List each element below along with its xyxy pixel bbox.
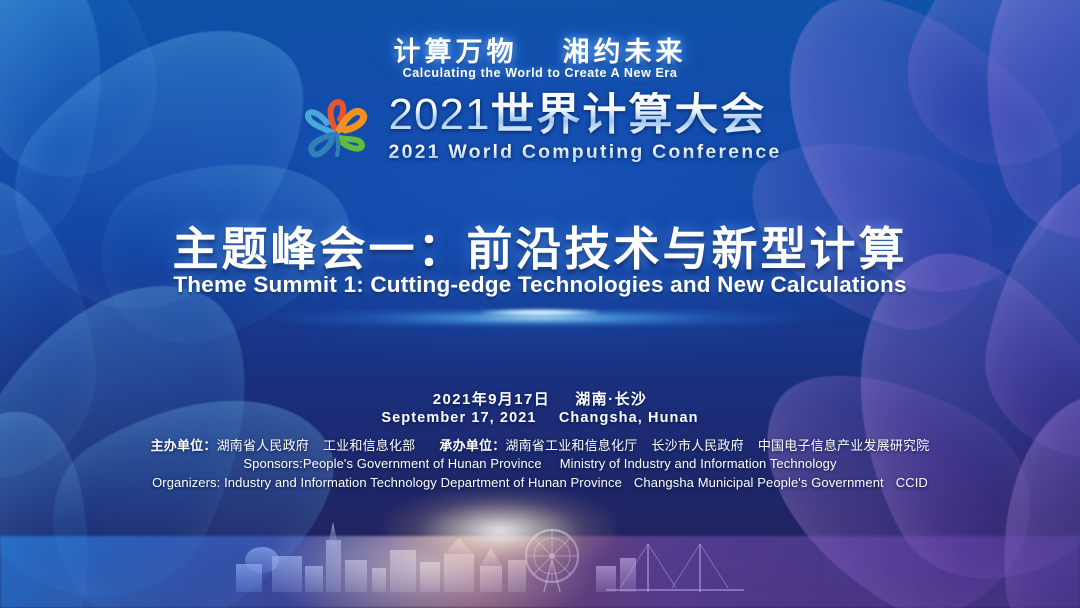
sponsor-label-cn: 主办单位： — [151, 438, 217, 453]
organizers-en-1: Organizers: Industry and Information Tec… — [152, 475, 622, 490]
credits-chinese: 主办单位：湖南省人民政府工业和信息化部承办单位：湖南省工业和信息化厅长沙市人民政… — [0, 435, 1080, 454]
conference-poster: 计算万物 湘约未来 Calculating the World to Creat… — [0, 0, 1080, 608]
organizer-cn-2: 长沙市人民政府 — [651, 438, 743, 453]
organizer-label-cn: 承办单位： — [439, 438, 505, 453]
slogan-cn-left: 计算万物 — [393, 37, 517, 67]
lens-flare-core — [480, 309, 600, 316]
road-center-glow — [385, 488, 615, 574]
conference-name-cn: 世界计算大会 — [490, 90, 766, 139]
sponsors-en-1: Sponsors:People's Government of Hunan Pr… — [243, 456, 541, 471]
sponsors-en-2: Ministry of Industry and Information Tec… — [560, 456, 837, 471]
date-en-value: September 17, 2021 — [381, 410, 536, 426]
sponsor-cn-1: 湖南省人民政府 — [217, 438, 309, 453]
conference-identity: 2021世界计算大会 2021 World Computing Conferen… — [0, 92, 1080, 164]
event-date-cn: 2021年9月17日 湖南·长沙 — [0, 388, 1080, 409]
summit-title-cn: 主题峰会一：前沿技术与新型计算 — [0, 213, 1080, 279]
butterfly-flower-logo — [299, 92, 375, 164]
summit-title-en: Theme Summit 1: Cutting-edge Technologie… — [0, 272, 1080, 298]
organizers-en-2: Changsha Municipal People's Government — [634, 475, 884, 490]
conference-year: 2021 — [389, 90, 491, 139]
location-cn-value: 湖南·长沙 — [575, 391, 647, 408]
slogan-cn-right: 湘约未来 — [563, 37, 687, 67]
slogan-english: Calculating the World to Create A New Er… — [0, 66, 1080, 80]
organizers-english: Organizers: Industry and Information Tec… — [0, 475, 1080, 490]
slogan-chinese: 计算万物 湘约未来 — [0, 30, 1080, 69]
city-skyline — [0, 478, 1080, 608]
sponsors-english: Sponsors:People's Government of Hunan Pr… — [0, 456, 1080, 471]
event-date-en: September 17, 2021 Changsha, Hunan — [0, 410, 1080, 426]
conference-title-cn: 2021世界计算大会 — [389, 92, 767, 138]
date-cn-value: 2021年9月17日 — [433, 391, 550, 408]
sponsor-cn-2: 工业和信息化部 — [323, 438, 415, 453]
organizer-cn-1: 湖南省工业和信息化厅 — [505, 438, 637, 453]
organizer-cn-3: 中国电子信息产业发展研究院 — [758, 438, 930, 453]
location-en-value: Changsha, Hunan — [559, 410, 699, 426]
conference-title-en: 2021 World Computing Conference — [389, 141, 782, 164]
organizers-en-3: CCID — [896, 475, 928, 490]
